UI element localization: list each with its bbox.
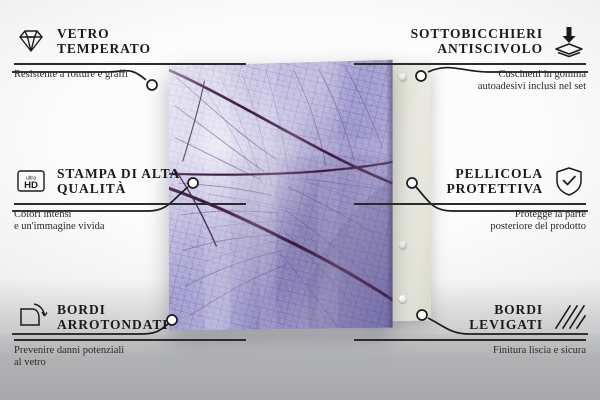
feature-description: Colori intensi e un'immagine vivida [14,209,246,234]
feature-vetro-temperato: VETRO TEMPERATO Resistente a rotture e g… [14,24,246,81]
feature-title: PELLICOLA PROTETTIVA [446,166,543,196]
feature-description: Resistente a rotture e graffi [14,69,246,82]
feature-description: Protegge la parte posteriore del prodott… [354,209,586,234]
shield-check-icon [552,164,586,198]
svg-text:HD: HD [24,180,38,191]
divider [14,63,246,65]
feature-description: Finitura liscia e sicura [354,345,586,358]
rubber-pad [399,241,407,249]
feature-header: BORDI LEVIGATI [354,300,586,334]
divider [354,203,586,205]
rounded-corner-icon [14,300,48,334]
divider [354,63,586,65]
feature-title: BORDI LEVIGATI [469,302,543,332]
feature-stampa-alta-qualita: ultra HD STAMPA DI ALTA QUALITÀ Colori i… [14,164,246,234]
arrow-down-stack-icon [552,24,586,58]
feature-sottobicchieri-antiscivolo: SOTTOBICCHIERI ANTISCIVOLO Cuscinetti in… [354,24,586,94]
divider [14,339,246,341]
feature-header: BORDI ARROTONDATI [14,300,246,334]
divider [354,339,586,341]
feature-header: SOTTOBICCHIERI ANTISCIVOLO [354,24,586,58]
feature-header: PELLICOLA PROTETTIVA [354,164,586,198]
feature-pellicola-protettiva: PELLICOLA PROTETTIVA Protegge la parte p… [354,164,586,234]
feature-title: VETRO TEMPERATO [57,26,151,56]
feature-description: Prevenire danni potenziali al vetro [14,345,246,370]
feature-title: STAMPA DI ALTA QUALITÀ [57,166,180,196]
diagonal-lines-icon [552,300,586,334]
diamond-icon [14,24,48,58]
infographic-canvas: VETRO TEMPERATO Resistente a rotture e g… [0,0,600,400]
feature-description: Cuscinetti in gomma autoadesivi inclusi … [354,69,586,94]
feature-bordi-arrotondati: BORDI ARROTONDATI Prevenire danni potenz… [14,300,246,370]
feature-title: SOTTOBICCHIERI ANTISCIVOLO [411,26,543,56]
feature-title: BORDI ARROTONDATI [57,302,168,332]
divider [14,203,246,205]
feature-header: VETRO TEMPERATO [14,24,246,58]
ultra-hd-icon: ultra HD [14,164,48,198]
feature-header: ultra HD STAMPA DI ALTA QUALITÀ [14,164,246,198]
feature-bordi-levigati: BORDI LEVIGATI Finitura liscia e sicura [354,300,586,357]
